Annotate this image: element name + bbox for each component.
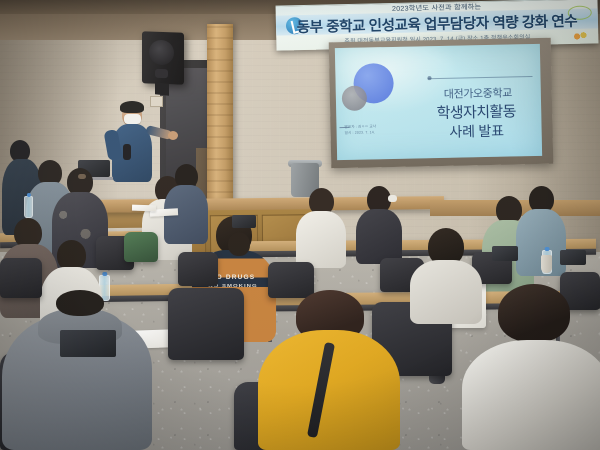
head — [228, 232, 250, 256]
chair[interactable] — [0, 258, 42, 298]
bottle-cap — [102, 272, 107, 276]
head-back — [56, 290, 104, 316]
torso — [462, 340, 600, 450]
laptop-screen — [492, 246, 518, 261]
chair-foreground-left[interactable] — [168, 288, 244, 360]
wall-speaker-icon — [142, 31, 184, 84]
attendee-gray-hoodie-left — [2, 296, 152, 450]
attendee-dark-hair-mid — [410, 228, 482, 324]
laptop-computer[interactable] — [60, 330, 116, 360]
laptop-screen — [560, 250, 586, 265]
attendee-mustard-foreground — [258, 290, 400, 450]
torso — [356, 209, 402, 264]
laptop-computer[interactable] — [492, 246, 518, 263]
attendee-dark-hair-right — [356, 186, 402, 264]
speaker-cone — [149, 40, 174, 66]
paper-cup[interactable] — [541, 255, 552, 273]
hair-clip — [78, 174, 86, 179]
water-bottle[interactable] — [24, 196, 33, 218]
presenter-microphone — [123, 144, 131, 160]
projection-screen: 대전가오중학교 학생자치활동 사례 발표 발표자 : 김ㅇㅇ 교사 일시 : 2… — [335, 44, 542, 160]
laptop-computer[interactable] — [560, 250, 586, 267]
chair[interactable] — [178, 252, 218, 286]
torso — [410, 260, 482, 324]
chair-green[interactable] — [124, 232, 158, 262]
face-mask — [388, 195, 397, 202]
slide-meta-line2: 일시 : 2023. 7. 14. — [345, 129, 403, 136]
laptop-screen — [232, 215, 256, 228]
slide-meta-block: 발표자 : 김ㅇㅇ 교사 일시 : 2023. 7. 14. — [344, 123, 402, 136]
torso — [296, 211, 346, 268]
handout-papers[interactable] — [132, 205, 156, 212]
attendee-white-right — [462, 296, 600, 450]
attendee-behind-small — [222, 232, 256, 272]
slide-title-line2: 사례 발표 — [416, 120, 536, 143]
wood-grain-texture — [207, 24, 233, 204]
laptop-screen — [60, 330, 116, 357]
speaker-mount-bracket — [155, 82, 169, 95]
head — [498, 284, 570, 342]
seminar-room-photo: 2023학년도 사전과 함께하는 동부 중학교 인성교육 업무담당자 역량 강화… — [0, 0, 600, 450]
speaker-tweeter — [155, 69, 168, 78]
presenter-hand — [168, 131, 178, 140]
bottle-cap — [26, 193, 30, 197]
attendee-white-shirt-center — [296, 188, 346, 268]
wooden-pillar — [207, 24, 233, 204]
laptop-computer[interactable] — [232, 215, 256, 230]
bottle-cap — [545, 247, 550, 251]
face-mask-white — [124, 114, 141, 124]
presenter-hair — [120, 101, 144, 113]
